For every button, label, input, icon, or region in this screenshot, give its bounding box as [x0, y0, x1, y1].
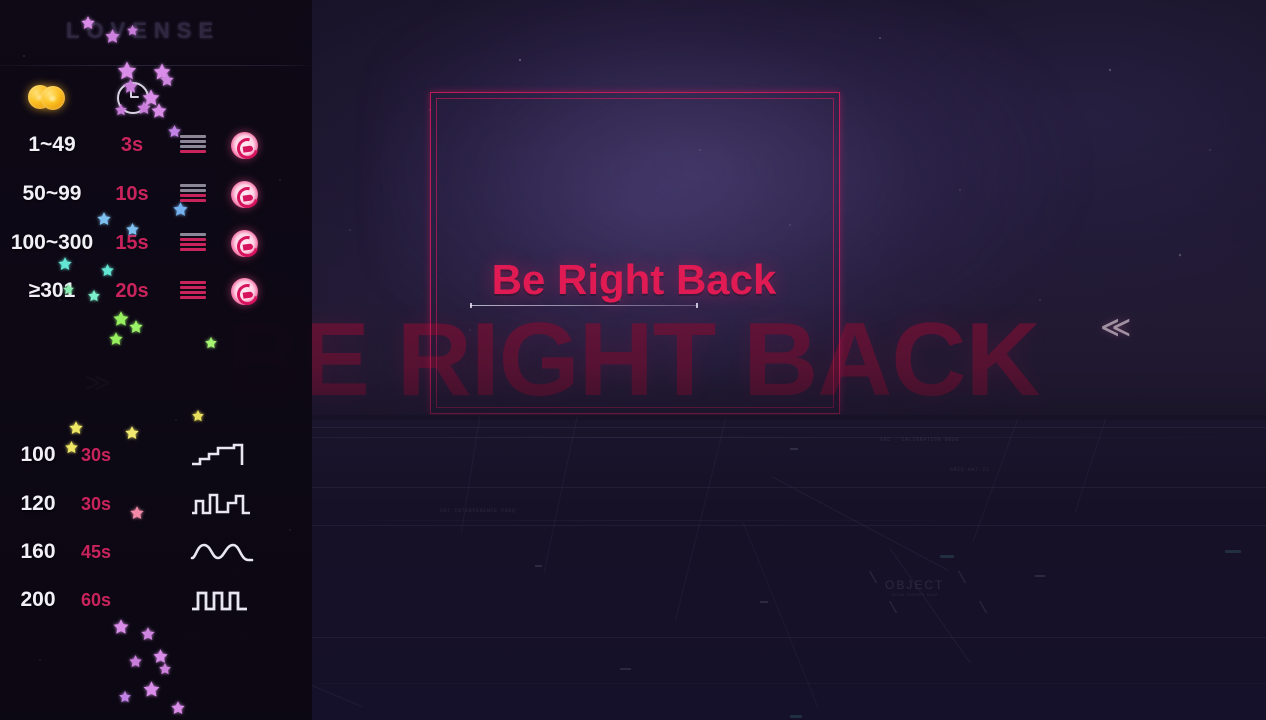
headline-underline — [470, 305, 698, 306]
tip-amount: 100~300 — [0, 226, 104, 260]
pattern-duration: 30s — [70, 438, 122, 472]
pattern-amount: 100 — [0, 438, 76, 472]
pattern-amount: 200 — [0, 583, 76, 617]
tip-duration: 10s — [104, 177, 160, 211]
page-title: Be Right Back — [430, 256, 838, 304]
pattern-row[interactable]: 100 30s — [0, 438, 312, 472]
lovense-logo-icon[interactable] — [231, 181, 258, 208]
pattern-row[interactable]: 160 45s — [0, 535, 312, 569]
staircase-wave-icon — [190, 442, 260, 470]
level-bars-icon — [180, 281, 206, 301]
tip-duration: 20s — [104, 274, 160, 308]
pattern-duration: 45s — [70, 535, 122, 569]
level-bars-icon — [180, 233, 206, 253]
square-wave-icon — [190, 587, 260, 615]
pattern-duration: 30s — [70, 487, 122, 521]
pattern-amount: 160 — [0, 535, 76, 569]
level-bars-icon — [180, 135, 206, 155]
pulse-step-wave-icon — [190, 491, 260, 519]
clock-icon — [117, 82, 149, 114]
panel-divider — [0, 65, 312, 66]
hud-label-meta-mid: GRID·0A7-22 — [950, 467, 990, 473]
tip-duration: 15s — [104, 226, 160, 260]
screen-root: BE RIGHT BACK 087 INTERFERENCE FREQ SEC … — [0, 0, 1266, 720]
lovense-logo-icon[interactable] — [231, 132, 258, 159]
hud-label-object: OBJECT SCAN TARGET 0042 — [885, 578, 944, 597]
hud-object-subtitle: SCAN TARGET 0042 — [885, 592, 944, 597]
lovense-logo-icon[interactable] — [231, 278, 258, 305]
coins-icon — [28, 83, 70, 111]
tip-amount: ≥301 — [0, 274, 104, 308]
tip-menu-panel: LOVENSE 1~49 3s 50~99 10s — [0, 0, 312, 720]
lovense-logo-icon[interactable] — [231, 230, 258, 257]
tip-level-row[interactable]: ≥301 20s — [0, 274, 312, 308]
pattern-duration: 60s — [70, 583, 122, 617]
level-bars-icon — [180, 184, 206, 204]
pattern-amount: 120 — [0, 487, 76, 521]
pattern-row[interactable]: 200 60s — [0, 583, 312, 617]
hud-label-meta-left: 087 INTERFERENCE FREQ — [440, 508, 516, 514]
tip-amount: 50~99 — [0, 177, 104, 211]
tip-level-row[interactable]: 100~300 15s — [0, 226, 312, 260]
pattern-row[interactable]: 120 30s — [0, 487, 312, 521]
hud-object-title: OBJECT — [885, 578, 944, 592]
tip-duration: 3s — [104, 128, 160, 162]
tip-level-row[interactable]: 1~49 3s — [0, 128, 312, 162]
chevron-double-left-icon[interactable]: ≪ — [1100, 313, 1131, 343]
tip-level-row[interactable]: 50~99 10s — [0, 177, 312, 211]
sine-wave-icon — [190, 539, 260, 567]
tip-amount: 1~49 — [0, 128, 104, 162]
brand-logo: LOVENSE — [66, 18, 246, 44]
